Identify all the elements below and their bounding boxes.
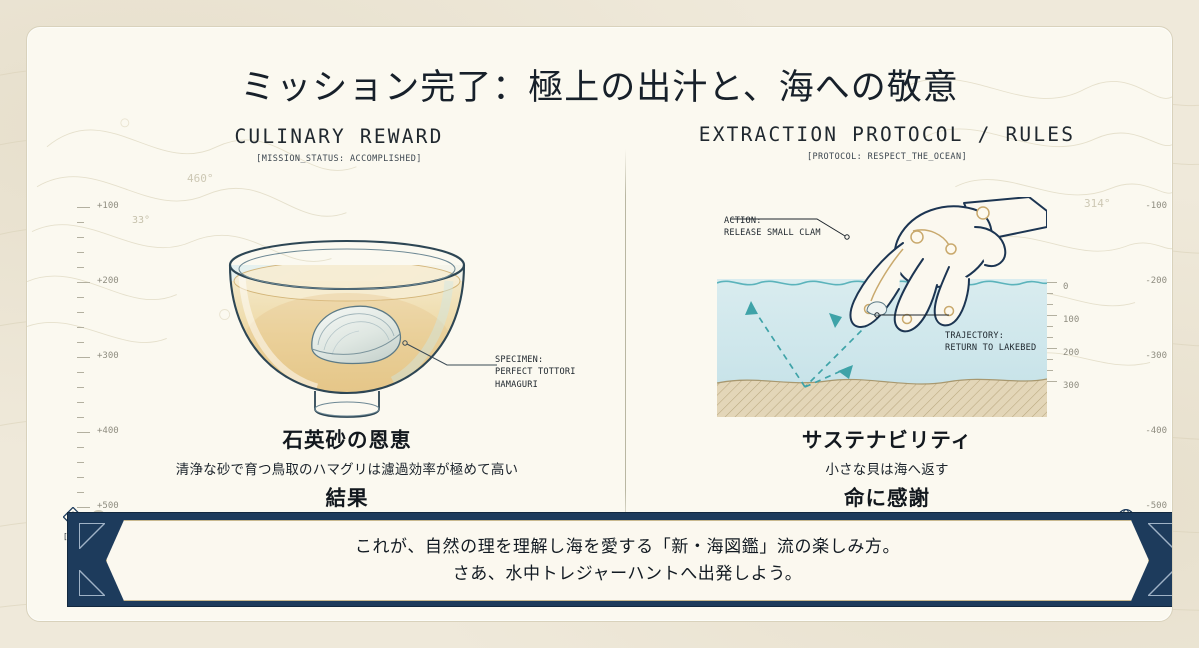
banner-diag-tr-icon: [1148, 523, 1173, 549]
ruler-right-label-0: -100: [1145, 201, 1167, 211]
column-divider: [625, 149, 626, 537]
right-block-1-body: 小さな貝は海へ返す: [627, 458, 1147, 478]
specimen-callout-line2: PERFECT TOTTORI: [495, 367, 576, 377]
left-block-1-body: 清浄な砂で育つ鳥取のハマグリは濾過効率が極めて高い: [87, 458, 607, 478]
depth-label-2: 200: [1063, 348, 1079, 358]
right-column-header-text: EXTRACTION PROTOCOL / RULES: [627, 123, 1147, 146]
left-column-header-text: CULINARY REWARD: [79, 125, 599, 148]
specimen-callout-label: SPECIMEN:: [495, 355, 543, 365]
trajectory-callout: TRAJECTORY: RETURN TO LAKEBED: [945, 330, 1036, 355]
right-block-1-heading: サステナビリティ: [627, 423, 1147, 453]
depth-label-3: 300: [1063, 381, 1079, 391]
left-block-1: 石英砂の恩恵 清浄な砂で育つ鳥取のハマグリは濾過効率が極めて高い: [87, 423, 607, 478]
bearing-mid-left: 33°: [132, 215, 150, 226]
specimen-callout: SPECIMEN: PERFECT TOTTORI HAMAGURI: [495, 354, 576, 391]
ruler-right-label-1: -200: [1145, 276, 1167, 286]
trajectory-callout-label: TRAJECTORY:: [945, 331, 1004, 341]
page-title: ミッション完了：極上の出汁と、海への敬意: [27, 59, 1172, 110]
action-callout-label: ACTION:: [724, 216, 762, 226]
banner-line-2: さあ、水中トレジャーハントへ出発しよう。: [453, 561, 803, 587]
ruler-left-label-1: +200: [97, 276, 119, 286]
ruler-right-label-2: -300: [1145, 351, 1167, 361]
left-column-header: CULINARY REWARD [MISSION_STATUS: ACCOMPL…: [79, 125, 599, 164]
action-callout: ACTION: RELEASE SMALL CLAM: [724, 215, 821, 240]
bearing-top-left: 460°: [187, 172, 214, 185]
page-background: ミッション完了：極上の出汁と、海への敬意 CULINARY REWARD [MI…: [0, 0, 1199, 648]
banner-diag-tl-icon: [79, 523, 105, 549]
ruler-right-label-4: -500: [1145, 501, 1167, 511]
action-callout-line2: RELEASE SMALL CLAM: [724, 228, 821, 238]
bearing-top-right: 314°: [1084, 197, 1111, 210]
glass-bowl-illustration: [197, 195, 497, 425]
banner-diag-br-icon: [1148, 570, 1173, 596]
banner-line-1: これが、自然の理を理解し海を愛する「新・海図鑑」流の楽しみ方。: [355, 534, 900, 560]
main-card: ミッション完了：極上の出汁と、海への敬意 CULINARY REWARD [MI…: [26, 26, 1173, 622]
specimen-callout-line3: HAMAGURI: [495, 380, 538, 390]
trajectory-callout-line2: RETURN TO LAKEBED: [945, 343, 1036, 353]
bottom-banner: これが、自然の理を理解し海を愛する「新・海図鑑」流の楽しみ方。 さあ、水中トレジ…: [67, 512, 1173, 607]
banner-diag-bl-icon: [79, 570, 105, 596]
depth-label-1: 100: [1063, 315, 1079, 325]
left-block-1-heading: 石英砂の恩恵: [87, 423, 607, 453]
ruler-left-label-0: +100: [97, 201, 119, 211]
depth-label-0: 0: [1063, 282, 1068, 292]
ruler-right-label-3: -400: [1145, 426, 1167, 436]
right-column-header: EXTRACTION PROTOCOL / RULES [PROTOCOL: R…: [627, 123, 1147, 162]
right-column-header-code: [PROTOCOL: RESPECT_THE_OCEAN]: [627, 152, 1147, 162]
banner-inner-panel: これが、自然の理を理解し海を愛する「新・海図鑑」流の楽しみ方。 さあ、水中トレジ…: [106, 520, 1149, 601]
right-block-1: サステナビリティ 小さな貝は海へ返す: [627, 423, 1147, 478]
ruler-left-label-2: +300: [97, 351, 119, 361]
left-column-header-code: [MISSION_STATUS: ACCOMPLISHED]: [79, 154, 599, 164]
depth-scale: 0 100 200 300: [1047, 282, 1109, 382]
